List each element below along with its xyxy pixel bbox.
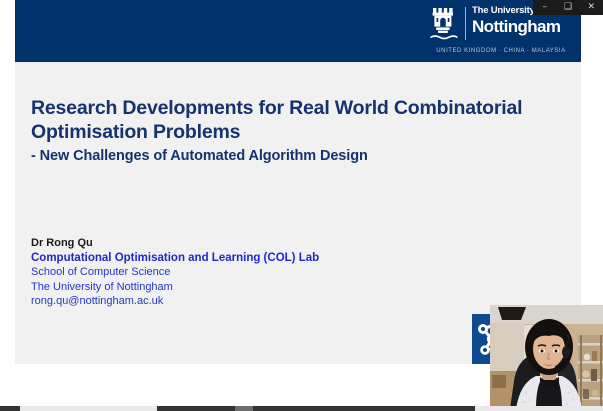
page-title: Research Developments for Real World Com…	[31, 96, 559, 144]
slide-left-margin	[0, 0, 15, 364]
presenter-video-feed[interactable]	[490, 305, 603, 409]
minimize-icon[interactable]: –	[535, 3, 555, 12]
logo-divider	[465, 7, 466, 40]
author-lab: Computational Optimisation and Learning …	[31, 251, 431, 266]
taskbar-strip[interactable]	[0, 406, 603, 411]
taskbar-segment-dark-1[interactable]	[157, 406, 235, 411]
taskbar-segment-dark-2[interactable]	[253, 406, 475, 411]
taskbar-segment-light-2[interactable]	[475, 406, 603, 411]
maximize-icon[interactable]: ❑	[558, 3, 578, 12]
castle-crest-icon	[429, 6, 459, 42]
university-name-line2: Nottingham	[472, 17, 574, 36]
close-icon[interactable]: ✕	[581, 3, 601, 12]
author-name: Dr Rong Qu	[31, 236, 431, 251]
page-subtitle: - New Challenges of Automated Algorithm …	[31, 147, 559, 166]
slide-header-band: The University of Nottingham UNITED KING…	[15, 0, 581, 62]
slide-title-block: Research Developments for Real World Com…	[31, 96, 559, 166]
university-strapline: UNITED KINGDOM · CHINA · MALAYSIA	[427, 48, 575, 54]
window-controls: – ❑ ✕	[533, 0, 603, 15]
taskbar-segment-light-1[interactable]	[20, 406, 157, 411]
taskbar-segment-start[interactable]	[0, 406, 20, 411]
author-affiliation-block: Dr Rong Qu Computational Optimisation an…	[31, 236, 431, 309]
taskbar-segment-mid[interactable]	[235, 406, 253, 411]
author-institution: The University of Nottingham	[31, 280, 431, 295]
author-school: School of Computer Science	[31, 265, 431, 280]
author-email: rong.qu@nottingham.ac.uk	[31, 294, 431, 309]
